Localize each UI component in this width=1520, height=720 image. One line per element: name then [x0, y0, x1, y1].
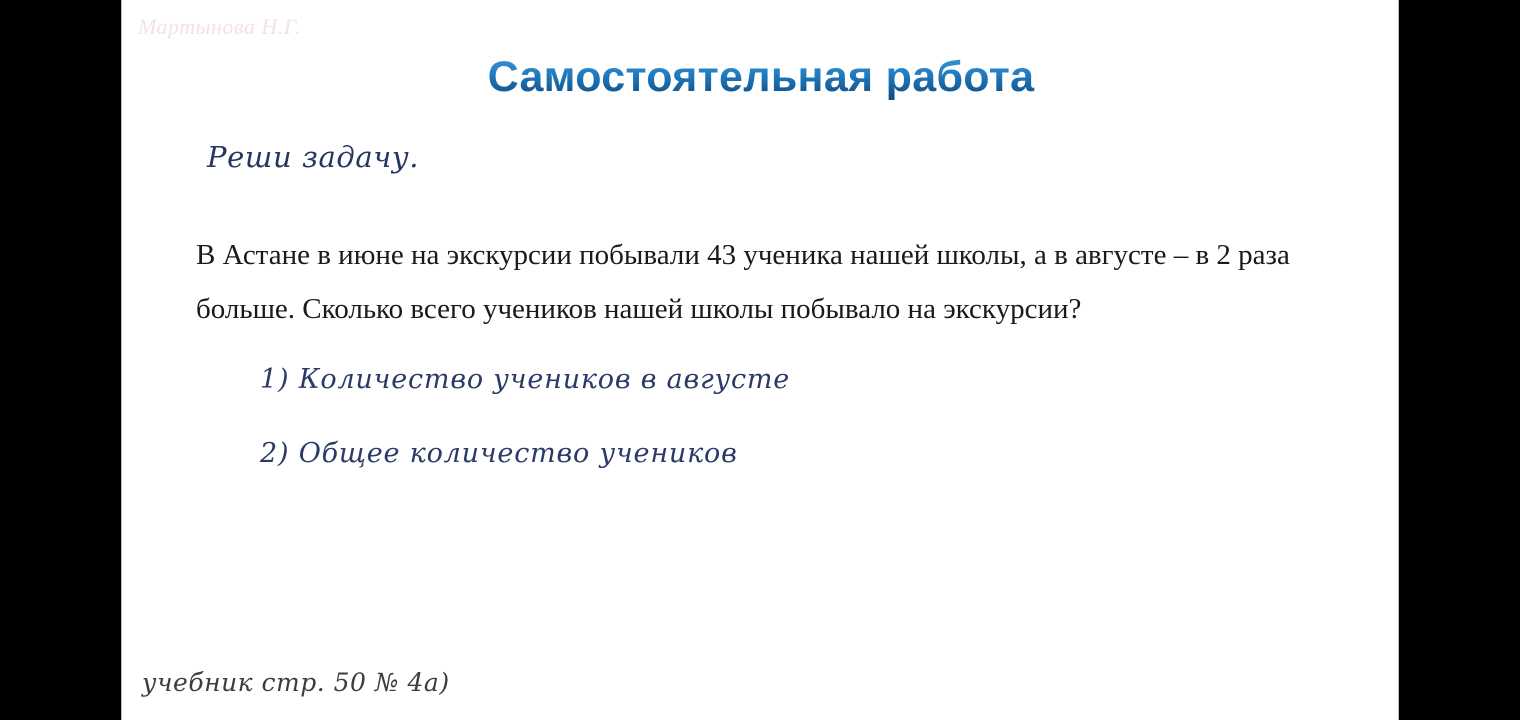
problem-statement: В Астане в июне на экскурсии побывали 43… [196, 228, 1336, 336]
presentation-slide: Мартынова Н.Г. Самостоятельная работа Ре… [121, 0, 1399, 720]
author-watermark: Мартынова Н.Г. [138, 14, 301, 40]
solution-step-2: 2) Общее количество учеников [260, 438, 738, 469]
letterbox-left [0, 0, 121, 720]
letterbox-right [1399, 0, 1520, 720]
instruction-text: Реши задачу. [207, 140, 419, 174]
slide-title: Самостоятельная работа [122, 53, 1399, 102]
solution-step-1: 1) Количество учеников в августе [260, 364, 790, 395]
textbook-reference: учебник стр. 50 № 4а) [142, 668, 450, 697]
video-frame: Мартынова Н.Г. Самостоятельная работа Ре… [0, 0, 1520, 720]
